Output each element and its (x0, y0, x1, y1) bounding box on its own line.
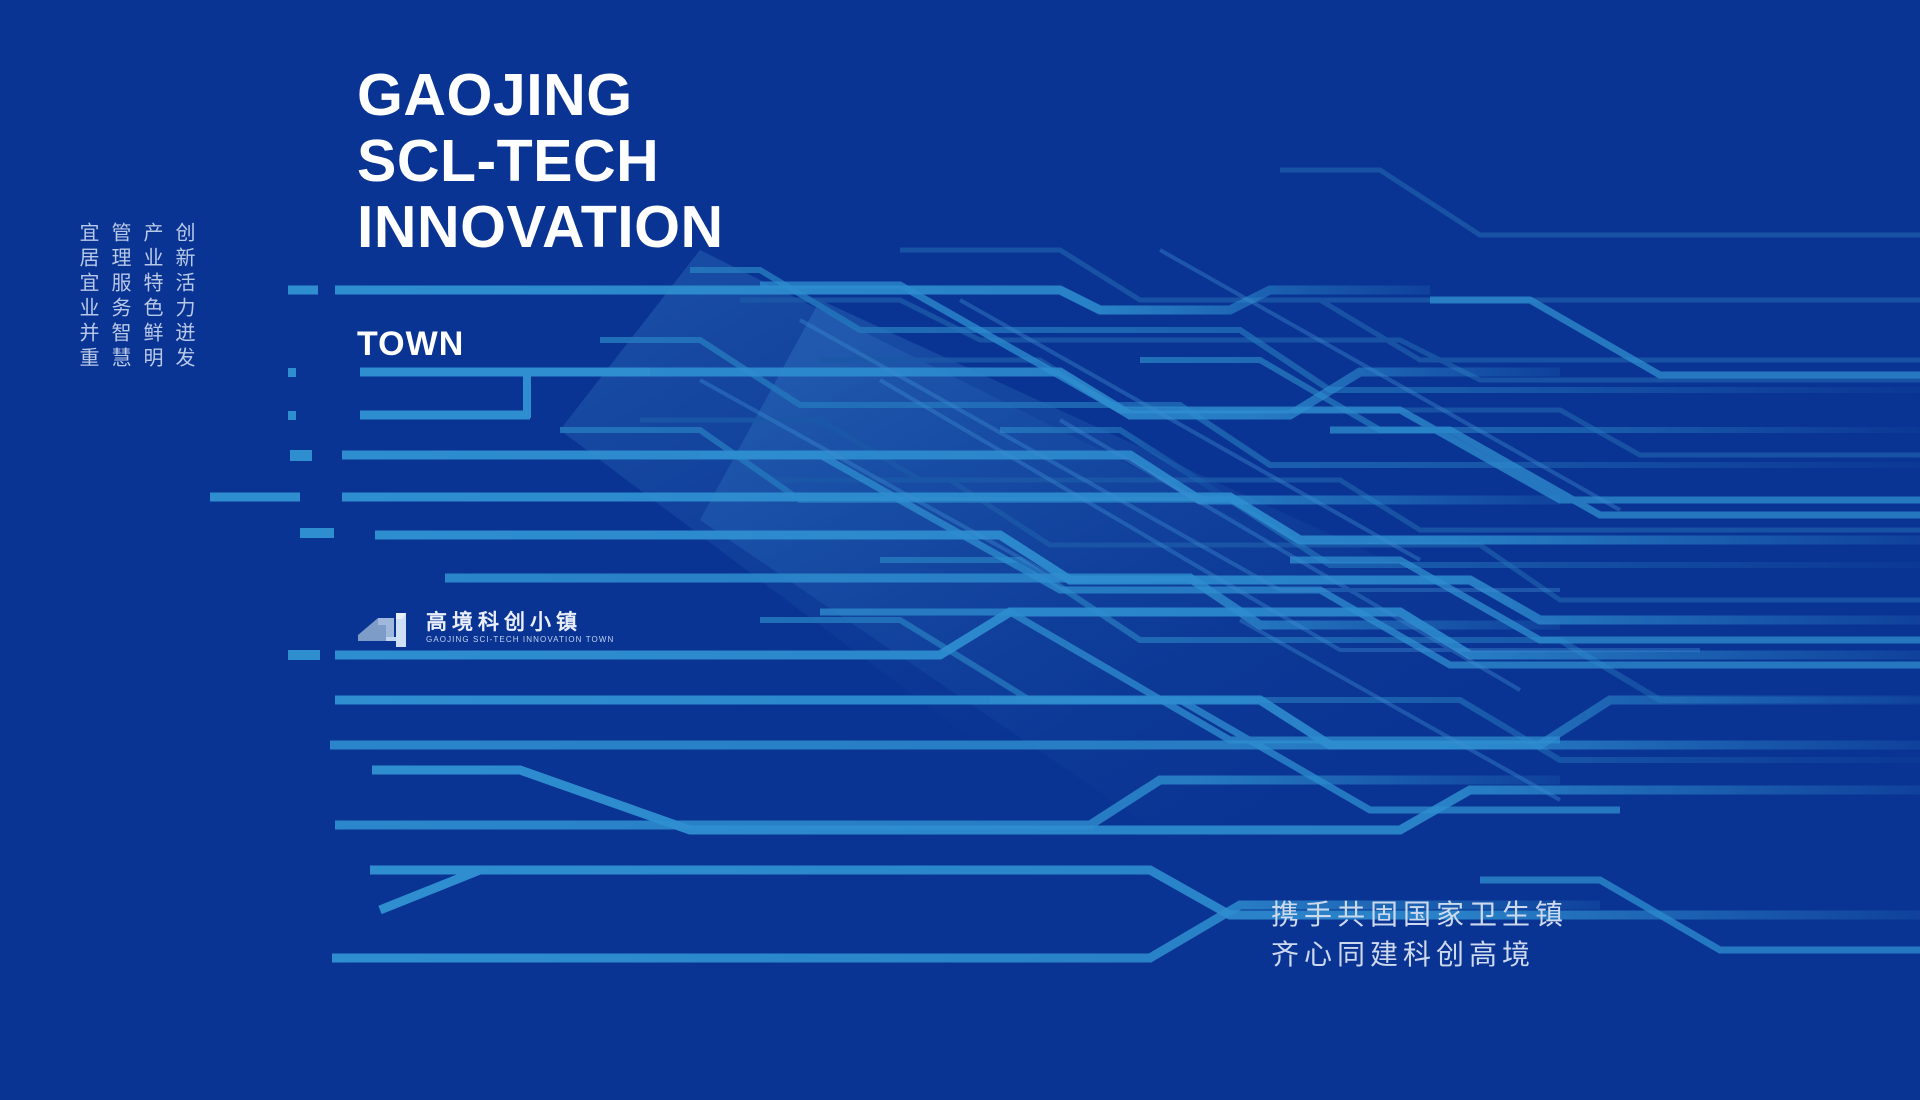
poster-canvas: GAOJING SCL-TECH INNOVATION TOWN 创新活力迸发 … (0, 0, 1920, 1100)
slogan-line-1: 携手共固国家卫生镇 (1271, 895, 1568, 935)
dot-marker (290, 450, 312, 461)
headline-town-word: TOWN (357, 325, 464, 364)
page-title: GAOJING SCL-TECH INNOVATION (357, 62, 724, 260)
vertical-tagline-4: 宜居宜业并重 (76, 222, 100, 372)
logo-chinese-name: 高境科创小镇 (426, 611, 614, 633)
vertical-tagline-group: 创新活力迸发 产业特色鲜明 管理服务智慧 宜居宜业并重 (76, 222, 196, 372)
left-edge-markers (288, 368, 334, 660)
slogan-line-2: 齐心同建科创高境 (1271, 935, 1568, 975)
headline-line-3: INNOVATION (357, 194, 724, 260)
dot-marker (288, 368, 296, 377)
campaign-slogan: 携手共固国家卫生镇 齐心同建科创高境 (1271, 895, 1568, 975)
headline-line-2: SCL-TECH (357, 128, 724, 194)
circuit-trace-artwork (0, 0, 1920, 1100)
dash-marker (300, 528, 334, 538)
dash-marker (288, 650, 320, 660)
vertical-tagline-1: 创新活力迸发 (172, 222, 196, 372)
logo-english-name: GAOJING SCI-TECH INNOVATION TOWN (426, 635, 614, 645)
dot-marker (288, 411, 296, 420)
house-roof-mark-icon (356, 607, 414, 649)
vertical-tagline-3: 管理服务智慧 (108, 222, 132, 372)
vertical-tagline-2: 产业特色鲜明 (140, 222, 164, 372)
headline-line-1: GAOJING (357, 62, 724, 128)
brand-logo-lockup: 高境科创小镇 GAOJING SCI-TECH INNOVATION TOWN (356, 607, 614, 649)
